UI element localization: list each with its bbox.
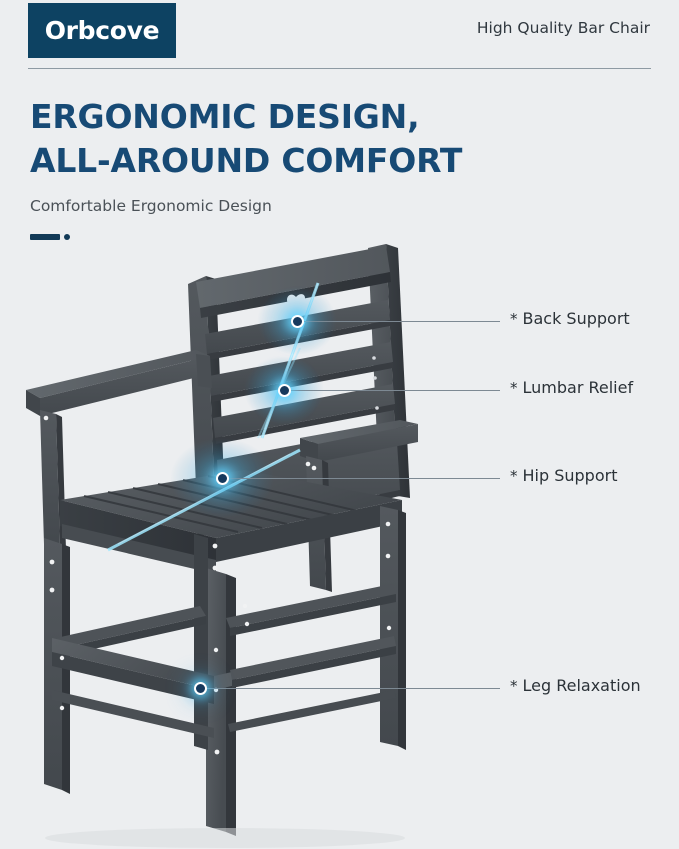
callout-label-back-support: *Back Support — [510, 309, 630, 328]
callout-label-leg-relaxation: *Leg Relaxation — [510, 676, 641, 695]
callout-marker-dot[interactable] — [291, 315, 304, 328]
brand-logo: Orbcove — [28, 3, 176, 58]
callout-text: Leg Relaxation — [523, 676, 641, 695]
callout-leader-line — [297, 321, 500, 322]
callout-leader-line — [200, 688, 500, 689]
callout-star-icon: * — [510, 310, 518, 328]
bar-chair-illustration — [0, 238, 679, 849]
callout-text: Back Support — [523, 309, 630, 328]
callout-leader-line — [222, 478, 500, 479]
callout-marker-dot[interactable] — [216, 472, 229, 485]
header-divider — [28, 68, 651, 69]
callout-text: Hip Support — [523, 466, 618, 485]
product-infographic-page: Orbcove High Quality Bar Chair ERGONOMIC… — [0, 0, 679, 849]
callout-label-lumbar-relief: *Lumbar Relief — [510, 378, 633, 397]
page-title-line-1: ERGONOMIC DESIGN, — [30, 95, 630, 139]
callout-star-icon: * — [510, 379, 518, 397]
callout-leader-line — [284, 390, 500, 391]
callout-star-icon: * — [510, 467, 518, 485]
page-header: Orbcove High Quality Bar Chair — [0, 0, 679, 72]
callout-marker-dot[interactable] — [278, 384, 291, 397]
page-subtitle: Comfortable Ergonomic Design — [30, 197, 630, 215]
product-illustration-stage: *Back Support *Lumbar Relief *Hip Suppor… — [0, 238, 679, 849]
brand-logo-text: Orbcove — [45, 16, 160, 45]
title-block: ERGONOMIC DESIGN, ALL-AROUND COMFORT Com… — [30, 95, 630, 215]
header-tagline: High Quality Bar Chair — [477, 19, 650, 37]
callout-text: Lumbar Relief — [523, 378, 634, 397]
callout-star-icon: * — [510, 677, 518, 695]
page-title-line-2: ALL-AROUND COMFORT — [30, 139, 630, 183]
callout-marker-dot[interactable] — [194, 682, 207, 695]
callout-label-hip-support: *Hip Support — [510, 466, 617, 485]
